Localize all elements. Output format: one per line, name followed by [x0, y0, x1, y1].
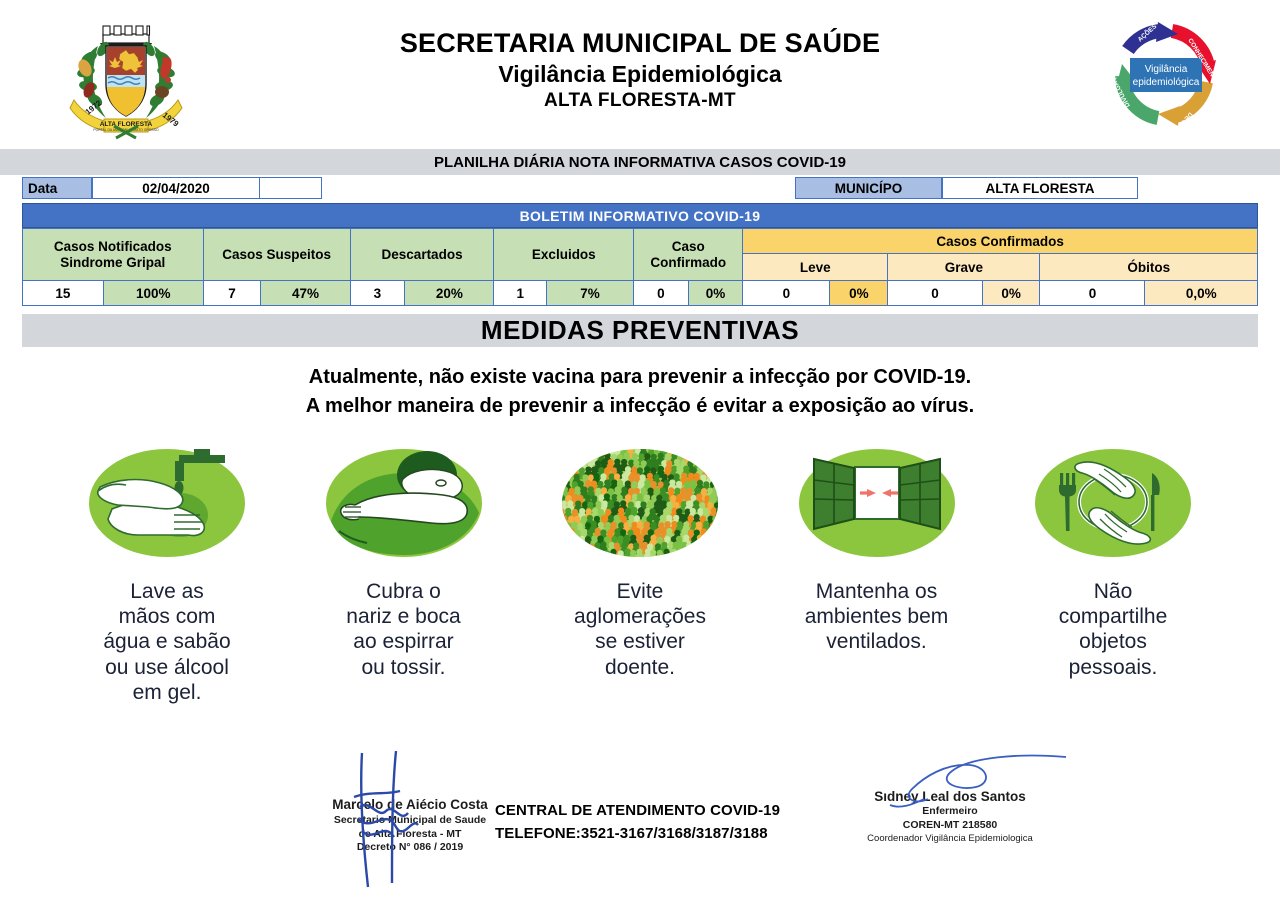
value-confirmado-pct: 0%: [688, 281, 743, 306]
value-excluidos-pct: 7%: [546, 281, 633, 306]
left-signature-block: Marcelo de Aiécio Costa Secretario Munic…: [300, 797, 520, 855]
value-descartados-pct: 20%: [405, 281, 494, 306]
left-signature-role3: Decreto N° 086 / 2019: [300, 841, 520, 855]
prevention-caption-4: Mantenha os ambientes bem ventilados.: [772, 579, 982, 655]
right-signature-name: Sıdney Leal dos Santos: [820, 789, 1080, 806]
open-window-icon: [772, 441, 982, 569]
prevention-icon-row: Lave as mãos com água e sabão ou use álc…: [62, 441, 1218, 705]
value-leve-pct: 0%: [830, 281, 888, 306]
table-value-row: 15 100% 7 47% 3 20% 1 7% 0 0% 0 0% 0 0% …: [23, 281, 1258, 306]
left-signature-role1: Secretario Municipal de Saude: [300, 814, 520, 828]
prevention-caption-3: Evite aglomerações se estiver doente.: [535, 579, 745, 680]
right-signature-role1: Enfermeiro: [820, 805, 1080, 819]
header-descartados: Descartados: [350, 229, 494, 281]
bulletin-banner: BOLETIM INFORMATIVO COVID-19: [22, 203, 1258, 228]
prevention-heading: MEDIDAS PREVENTIVAS: [481, 315, 799, 346]
value-suspeitos-pct: 47%: [261, 281, 350, 306]
header-grave: Grave: [888, 254, 1040, 281]
cough-elbow-icon: [299, 441, 509, 569]
prevention-caption-5: Não compartilhe objetos pessoais.: [1008, 579, 1218, 680]
data-label: Data: [22, 177, 92, 199]
left-signature-name: Marcelo de Aiécio Costa: [300, 797, 520, 814]
header-titles: SECRETARIA MUNICIPAL DE SAÚDE Vigilância…: [0, 28, 1280, 120]
alta-floresta-coat-of-arms-icon: 1972 1979 ALTA FLORESTA PORTAL DA AMAZON…: [62, 22, 190, 140]
header-excluidos: Excluidos: [494, 229, 634, 281]
prevention-item-1: Lave as mãos com água e sabão ou use álc…: [62, 441, 272, 705]
value-confirmado-count: 0: [634, 281, 689, 306]
central-line2: TELEFONE:3521-3167/3168/3187/3188: [495, 822, 780, 845]
header-caso-confirmado: Caso Confirmado: [634, 229, 743, 281]
crowd-avoid-icon: [535, 441, 745, 569]
value-suspeitos-count: 7: [203, 281, 261, 306]
central-line1: CENTRAL DE ATENDIMENTO COVID-19: [495, 799, 780, 822]
table-header-row-1: Casos Notificados Sindrome Gripal Casos …: [23, 229, 1258, 254]
page-header: 1972 1979 ALTA FLORESTA PORTAL DA AMAZON…: [0, 0, 1280, 148]
page-city: ALTA FLORESTA-MT: [0, 88, 1280, 114]
page-footer: Marcelo de Aiécio Costa Secretario Munic…: [0, 747, 1280, 897]
sheet-title-bar: PLANILHA DIÁRIA NOTA INFORMATIVA CASOS C…: [0, 148, 1280, 175]
crest-motto: ALTA FLORESTA: [100, 121, 153, 128]
value-grave-count: 0: [888, 281, 983, 306]
meta-blank-cell: [260, 177, 322, 199]
header-obitos: Óbitos: [1040, 254, 1258, 281]
bulletin-banner-label: BOLETIM INFORMATIVO COVID-19: [520, 208, 761, 224]
value-leve-count: 0: [743, 281, 830, 306]
no-sharing-utensils-icon: [1008, 441, 1218, 569]
data-value[interactable]: 02/04/2020: [92, 177, 260, 199]
prevention-item-4: Mantenha os ambientes bem ventilados.: [772, 441, 982, 705]
epidemiological-surveillance-cycle-icon: Vigilância epidemiológica AÇÕES CONHECIM…: [1100, 14, 1232, 136]
header-casos-confirmados: Casos Confirmados: [743, 229, 1258, 254]
value-excluidos-count: 1: [494, 281, 547, 306]
prevention-intro: Atualmente, não existe vacina para preve…: [0, 363, 1280, 421]
municipio-value[interactable]: ALTA FLORESTA: [942, 177, 1138, 199]
prevention-caption-1: Lave as mãos com água e sabão ou use álc…: [62, 579, 272, 705]
page-title: SECRETARIA MUNICIPAL DE SAÚDE: [0, 28, 1280, 60]
header-casos-notificados: Casos Notificados Sindrome Gripal: [23, 229, 204, 281]
meta-row: Data 02/04/2020 MUNICÍPO ALTA FLORESTA: [0, 177, 1280, 201]
value-descartados-count: 3: [350, 281, 405, 306]
page-subtitle: Vigilância Epidemiológica: [0, 60, 1280, 89]
prevention-intro-line2: A melhor maneira de prevenir a infecção …: [0, 392, 1280, 421]
bulletin-page: 1972 1979 ALTA FLORESTA PORTAL DA AMAZON…: [0, 0, 1280, 905]
value-notificados-count: 15: [23, 281, 104, 306]
prevention-heading-bar: MEDIDAS PREVENTIVAS: [22, 314, 1258, 347]
prevention-intro-line1: Atualmente, não existe vacina para preve…: [0, 363, 1280, 392]
value-notificados-pct: 100%: [103, 281, 203, 306]
prevention-item-2: Cubra o nariz e boca ao espirrar ou toss…: [299, 441, 509, 705]
right-signature-role3: Coordenador Vigilância Epidemiologica: [820, 833, 1080, 845]
prevention-item-5: Não compartilhe objetos pessoais.: [1008, 441, 1218, 705]
hand-washing-icon: [62, 441, 272, 569]
left-signature-role2: de Alta Floresta - MT: [300, 828, 520, 842]
municipio-label: MUNICÍPO: [795, 177, 942, 199]
prevention-caption-2: Cubra o nariz e boca ao espirrar ou toss…: [299, 579, 509, 680]
central-contact-block: CENTRAL DE ATENDIMENTO COVID-19 TELEFONE…: [495, 799, 780, 846]
cycle-center-line1: Vigilância: [1145, 64, 1188, 75]
value-obitos-count: 0: [1040, 281, 1145, 306]
header-leve: Leve: [743, 254, 888, 281]
value-grave-pct: 0%: [982, 281, 1040, 306]
cycle-center-line2: epidemiológica: [1133, 77, 1200, 88]
prevention-item-3: Evite aglomerações se estiver doente.: [535, 441, 745, 705]
sheet-title: PLANILHA DIÁRIA NOTA INFORMATIVA CASOS C…: [434, 154, 846, 171]
covid-summary-table: Casos Notificados Sindrome Gripal Casos …: [22, 228, 1258, 306]
right-signature-block: Sıdney Leal dos Santos Enfermeiro COREN-…: [820, 789, 1080, 846]
header-casos-suspeitos: Casos Suspeitos: [203, 229, 350, 281]
value-obitos-pct: 0,0%: [1145, 281, 1258, 306]
right-signature-role2: COREN-MT 218580: [820, 819, 1080, 833]
